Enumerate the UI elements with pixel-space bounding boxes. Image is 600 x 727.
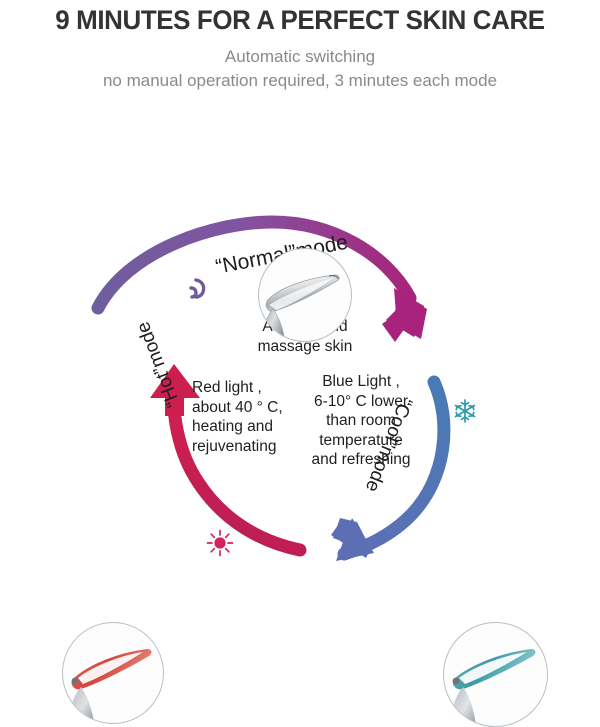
photo-cool bbox=[443, 622, 548, 727]
header: 9 MINUTES FOR A PERFECT SKIN CARE Automa… bbox=[0, 0, 600, 93]
photo-hot bbox=[62, 622, 164, 724]
subtitle-line-2: no manual operation required, 3 minutes … bbox=[0, 69, 600, 93]
photo-normal bbox=[258, 248, 352, 342]
device-teal-glow bbox=[444, 623, 547, 726]
snowflake-icon bbox=[452, 398, 478, 429]
page-title: 9 MINUTES FOR A PERFECT SKIN CARE bbox=[12, 0, 588, 36]
sun-icon bbox=[205, 528, 235, 563]
mode-cycle-diagram: “Normal”mode “Hot”mode “Cool”mode Activa… bbox=[0, 110, 600, 600]
page-subtitle: Automatic switching no manual operation … bbox=[0, 36, 600, 93]
vibration-icon bbox=[188, 276, 222, 309]
device-red-glow bbox=[63, 623, 163, 723]
device-silver bbox=[259, 249, 351, 341]
mode-description-hot: Red light , about 40 ° C, heating and re… bbox=[192, 378, 304, 456]
page-root: 9 MINUTES FOR A PERFECT SKIN CARE Automa… bbox=[0, 0, 600, 600]
mode-description-cool: Blue Light , 6-10° C lower than room tem… bbox=[303, 372, 419, 470]
subtitle-line-1: Automatic switching bbox=[225, 47, 375, 66]
